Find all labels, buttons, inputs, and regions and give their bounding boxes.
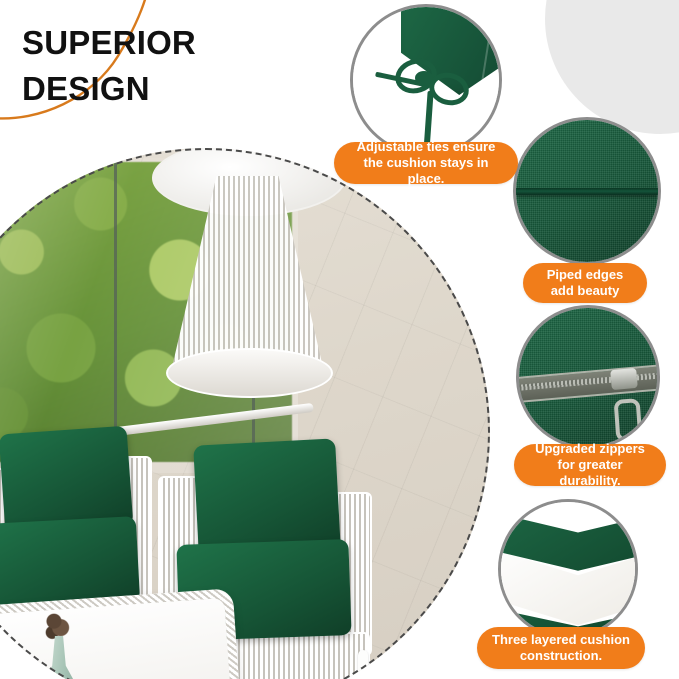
zipper-slider [610, 368, 638, 390]
page-title-line2: DESIGN [22, 66, 352, 112]
product-infographic: SUPERIOR DESIGN [0, 0, 679, 679]
feature-image-adjustable-ties [350, 4, 502, 156]
piping-seam [516, 188, 658, 195]
feature-caption-upgraded-zippers: Upgraded zippers for greater durability. [514, 444, 666, 486]
tie-knot [415, 71, 433, 85]
feature-image-upgraded-zippers [516, 305, 660, 449]
feature-caption-piped-edges: Piped edges add beauty [523, 263, 647, 303]
patio-scene [0, 148, 490, 679]
right-armchair-leg [358, 650, 368, 679]
page-title: SUPERIOR DESIGN [22, 20, 352, 111]
corner-blob-decoration [545, 0, 679, 134]
coffee-table-weave-edge [0, 588, 243, 679]
feature-caption-three-layers: Three layered cushion construction. [477, 627, 645, 669]
feature-image-three-layers [498, 499, 638, 639]
feature-image-piped-edges [513, 117, 661, 265]
zipper-pull-tab [614, 398, 643, 442]
feature-caption-adjustable-ties: Adjustable ties ensure the cushion stays… [334, 142, 518, 184]
side-table-ring [166, 348, 333, 398]
coffee-table [0, 588, 243, 679]
page-title-line1: SUPERIOR [22, 20, 352, 66]
main-product-photo-clip [0, 148, 490, 679]
main-product-photo [0, 148, 490, 679]
